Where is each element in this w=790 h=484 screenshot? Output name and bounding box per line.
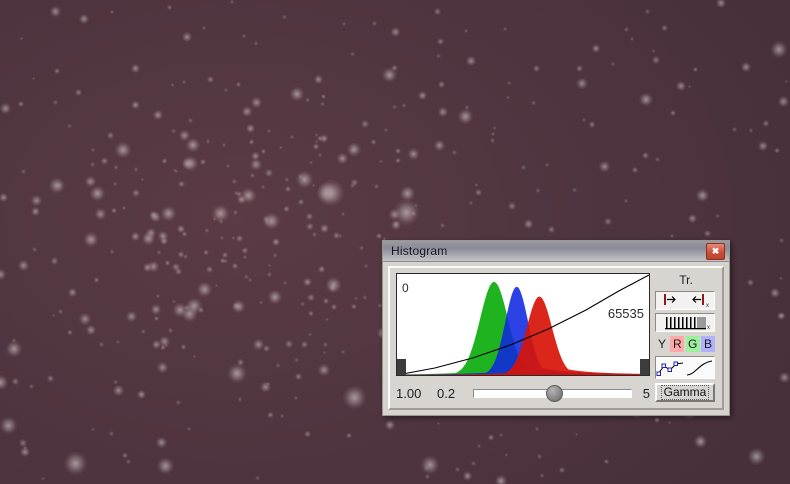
curve-points-icon	[656, 357, 685, 378]
window-title-bar[interactable]: Histogram ✖	[383, 241, 729, 262]
gamma-slider-row: 1.00 0.2 5	[396, 381, 650, 405]
histogram-bars-icon[interactable]: x	[655, 313, 715, 332]
tool-panel: Tr. x	[655, 272, 717, 403]
slider-max-label: 5	[638, 386, 650, 401]
gamma-button[interactable]: Gamma	[655, 383, 715, 402]
svg-text:x: x	[707, 325, 710, 331]
gamma-slider[interactable]	[473, 389, 632, 398]
axis-max-label: 65535	[608, 306, 644, 321]
gamma-button-label: Gamma	[661, 385, 710, 400]
white-level-handle[interactable]	[640, 359, 650, 376]
range-limits-icon[interactable]: x	[655, 291, 715, 310]
close-icon[interactable]: ✖	[706, 243, 725, 260]
histogram-plot[interactable]: 0 65535	[396, 273, 650, 376]
channel-y[interactable]: Y	[655, 336, 669, 352]
channel-g[interactable]: G	[686, 336, 700, 352]
axis-min-label: 0	[402, 281, 409, 295]
histogram-canvas	[397, 274, 649, 375]
channel-r[interactable]: R	[670, 336, 684, 352]
slider-min-label: 0.2	[437, 386, 467, 401]
channel-buttons: Y R G B	[655, 336, 715, 352]
window-title: Histogram	[391, 244, 447, 258]
histogram-panel: 0 65535 1.00 0.2 5	[396, 273, 650, 403]
svg-text:x: x	[706, 303, 709, 309]
gamma-value: 1.00	[396, 386, 432, 401]
transfer-label: Tr.	[655, 272, 717, 288]
channel-b[interactable]: B	[701, 336, 715, 352]
black-level-handle[interactable]	[396, 359, 406, 376]
slider-thumb[interactable]	[546, 385, 563, 402]
curve-tools[interactable]	[655, 356, 715, 379]
window-body: 0 65535 1.00 0.2 5 Tr.	[388, 266, 724, 410]
histogram-window[interactable]: Histogram ✖ 0 65535 1.00 0.2 5	[382, 240, 730, 416]
curve-shape-icon	[685, 357, 714, 378]
